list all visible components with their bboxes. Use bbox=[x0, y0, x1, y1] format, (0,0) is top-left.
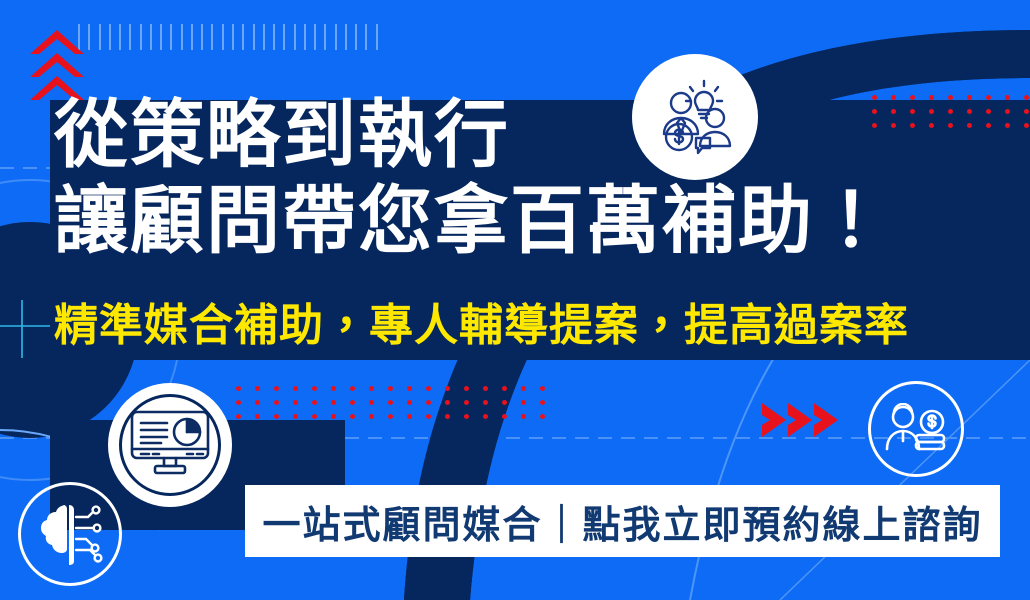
dashboard-chart-glyph bbox=[129, 409, 211, 481]
headline: 從策略到執行 讓顧問帶您拿百萬補助！ bbox=[54, 98, 994, 258]
money-person-icon bbox=[868, 381, 964, 477]
dot-grid-icon bbox=[236, 386, 545, 419]
cta-button-label: 一站式顧問媒合｜點我立即預約線上諮詢 bbox=[262, 494, 982, 549]
tick-marks-icon bbox=[78, 24, 378, 50]
subheadline: 精準媒合補助，專人輔導提案，提高過案率 bbox=[54, 300, 909, 353]
promo-banner: 從策略到執行 讓顧問帶您拿百萬補助！ 精準媒合補助，專人輔導提案，提高過案率 一… bbox=[0, 0, 1030, 600]
ai-brain-glyph bbox=[34, 501, 106, 567]
headline-line-1: 從策略到執行 bbox=[54, 98, 994, 172]
dashboard-chart-icon bbox=[108, 383, 232, 507]
money-person-glyph bbox=[884, 403, 948, 455]
chevron-right-icon bbox=[760, 400, 842, 440]
headline-line-2: 讓顧問帶您拿百萬補助！ bbox=[54, 184, 994, 258]
cta-button[interactable]: 一站式顧問媒合｜點我立即預約線上諮詢 bbox=[245, 485, 1000, 557]
ai-brain-icon bbox=[18, 482, 122, 586]
chevron-up-icon bbox=[26, 28, 88, 100]
